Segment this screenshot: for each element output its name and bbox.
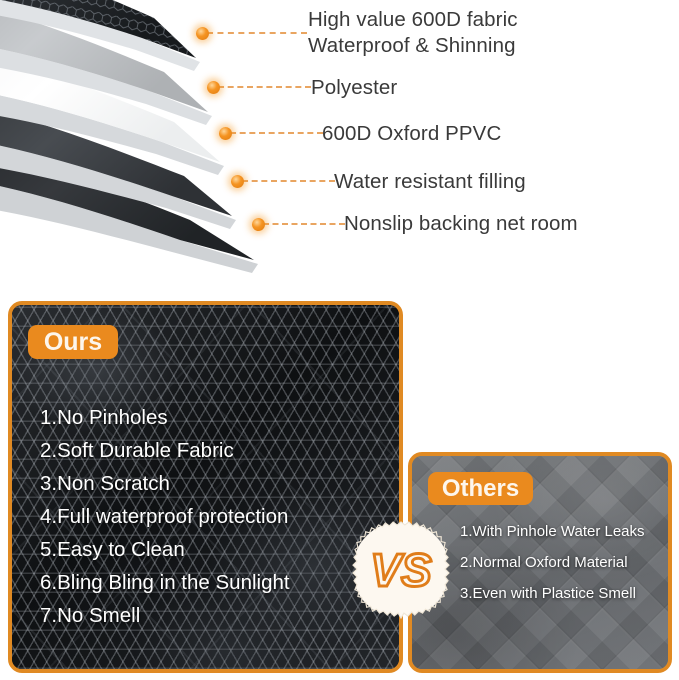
ours-panel: Ours 1.No Pinholes 2.Soft Durable Fabric… xyxy=(8,301,403,673)
callout-1-label: High value 600D fabric Waterproof & Shin… xyxy=(308,7,518,59)
orange-dot-icon xyxy=(196,27,209,40)
vs-label: VS xyxy=(370,544,432,596)
ours-badge: Ours xyxy=(28,325,118,359)
callout-5-label: Nonslip backing net room xyxy=(344,211,578,237)
orange-dot-icon xyxy=(252,218,265,231)
list-item: 3.Non Scratch xyxy=(40,467,290,500)
ours-feature-list: 1.No Pinholes 2.Soft Durable Fabric 3.No… xyxy=(40,401,290,632)
vs-badge: VS xyxy=(352,521,450,619)
others-badge: Others xyxy=(428,472,533,505)
leader-line xyxy=(230,132,323,134)
list-item: 6.Bling Bling in the Sunlight xyxy=(40,566,290,599)
callout-1-label-line1: High value 600D fabric xyxy=(308,7,518,33)
orange-dot-icon xyxy=(207,81,220,94)
callout-4-label: Water resistant filling xyxy=(334,169,526,195)
list-item: 2.Normal Oxford Material xyxy=(460,547,645,578)
fabric-layers-diagram xyxy=(0,0,300,300)
callout-4-label-line1: Water resistant filling xyxy=(334,169,526,195)
others-feature-list: 1.With Pinhole Water Leaks 2.Normal Oxfo… xyxy=(460,516,645,609)
list-item: 7.No Smell xyxy=(40,599,290,632)
callout-5-label-line1: Nonslip backing net room xyxy=(344,211,578,237)
list-item: 4.Full waterproof protection xyxy=(40,500,290,533)
callout-3-label: 600D Oxford PPVC xyxy=(322,121,501,147)
callout-3-label-line1: 600D Oxford PPVC xyxy=(322,121,501,147)
orange-dot-icon xyxy=(219,127,232,140)
product-infographic: High value 600D fabric Waterproof & Shin… xyxy=(0,0,679,680)
callout-1-label-line2: Waterproof & Shinning xyxy=(308,33,518,59)
list-item: 3.Even with Plastice Smell xyxy=(460,578,645,609)
leader-line xyxy=(263,223,345,225)
leader-line xyxy=(242,180,335,182)
leader-line xyxy=(207,32,307,34)
list-item: 1.No Pinholes xyxy=(40,401,290,434)
leader-line xyxy=(218,86,311,88)
callout-2-label: Polyester xyxy=(311,75,397,101)
list-item: 1.With Pinhole Water Leaks xyxy=(460,516,645,547)
list-item: 2.Soft Durable Fabric xyxy=(40,434,290,467)
list-item: 5.Easy to Clean xyxy=(40,533,290,566)
orange-dot-icon xyxy=(231,175,244,188)
callout-2-label-line1: Polyester xyxy=(311,75,397,101)
